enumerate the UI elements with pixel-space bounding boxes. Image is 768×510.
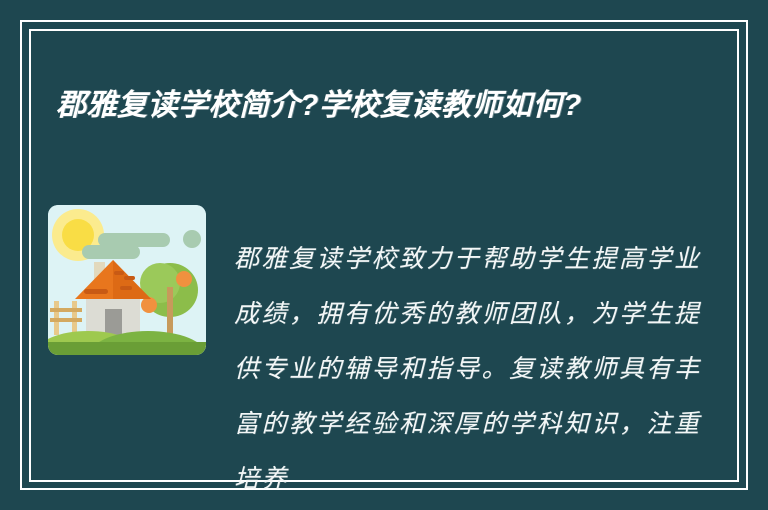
article-content: 郡雅复读学校致力于帮助学生提高学业成绩，拥有优秀的教师团队，为学生提供专业的辅导… [48,205,708,470]
article-body-text: 郡雅复读学校致力于帮助学生提高学业成绩，拥有优秀的教师团队，为学生提供专业的辅导… [234,232,708,507]
article-card-page: 郡雅复读学校简介?学校复读教师如何? [0,0,768,510]
page-title: 郡雅复读学校简介?学校复读教师如何? [56,78,688,134]
thumbnail-illustration [48,205,206,355]
